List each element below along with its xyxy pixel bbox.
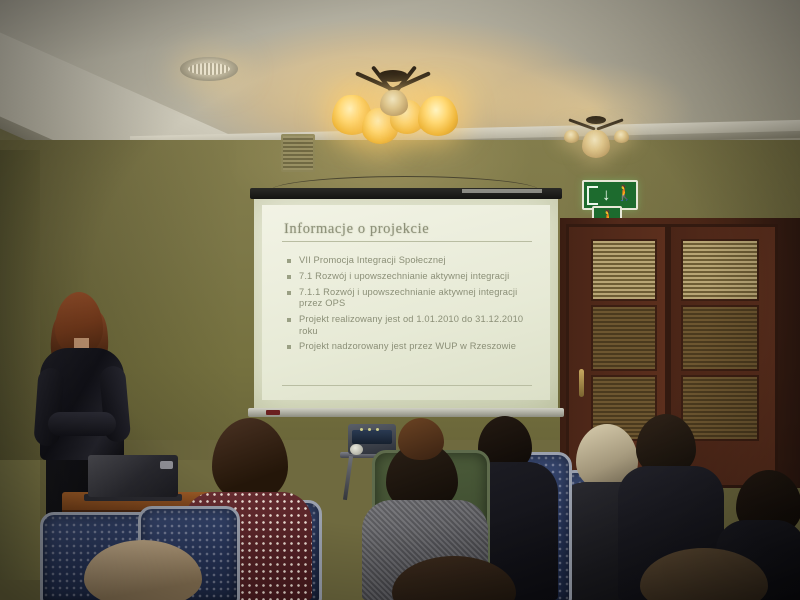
laptop-logo-icon [160, 461, 173, 469]
slide-bullet: Projekt realizowany jest od 1.01.2010 do… [286, 314, 538, 337]
recessed-spotlight-icon [180, 57, 238, 81]
slide-bullet: 7.1 Rozwój i upowszechnianie aktywnej in… [286, 271, 538, 282]
slide-title: Informacje o projekcie [284, 221, 429, 238]
conference-room-photo: ↓ 🚶 🚶 Informacje o projekcie VII Promocj… [0, 0, 800, 600]
slide-bullet-list: VII Promocja Integracji Społecznej 7.1 R… [286, 255, 538, 357]
projection-screen: Informacje o projekcie VII Promocja Inte… [254, 199, 558, 408]
screen-top-bar [250, 188, 562, 199]
audience-member-auburn [398, 418, 444, 460]
slide-rule-top [282, 241, 532, 242]
chandelier-secondary [558, 116, 638, 160]
slide-bullet: 7.1.1 Rozwój i upowszechnianie aktywnej … [286, 287, 538, 310]
slide-rule-bottom [282, 385, 532, 386]
ventilation-grille-icon [281, 134, 315, 172]
projector-lens-icon [350, 444, 363, 455]
presenter-crossed-arms [48, 412, 116, 436]
chandelier-main [330, 70, 460, 140]
slide-bullet: VII Promocja Integracji Społecznej [286, 255, 538, 266]
door-handle-icon[interactable] [579, 369, 584, 397]
slide-bullet: Projekt nadzorowany jest przez WUP w Rze… [286, 341, 538, 352]
projector-stand-leg [343, 456, 353, 500]
screen-bottom-bar [248, 408, 564, 417]
projected-slide: Informacje o projekcie VII Promocja Inte… [262, 205, 550, 400]
